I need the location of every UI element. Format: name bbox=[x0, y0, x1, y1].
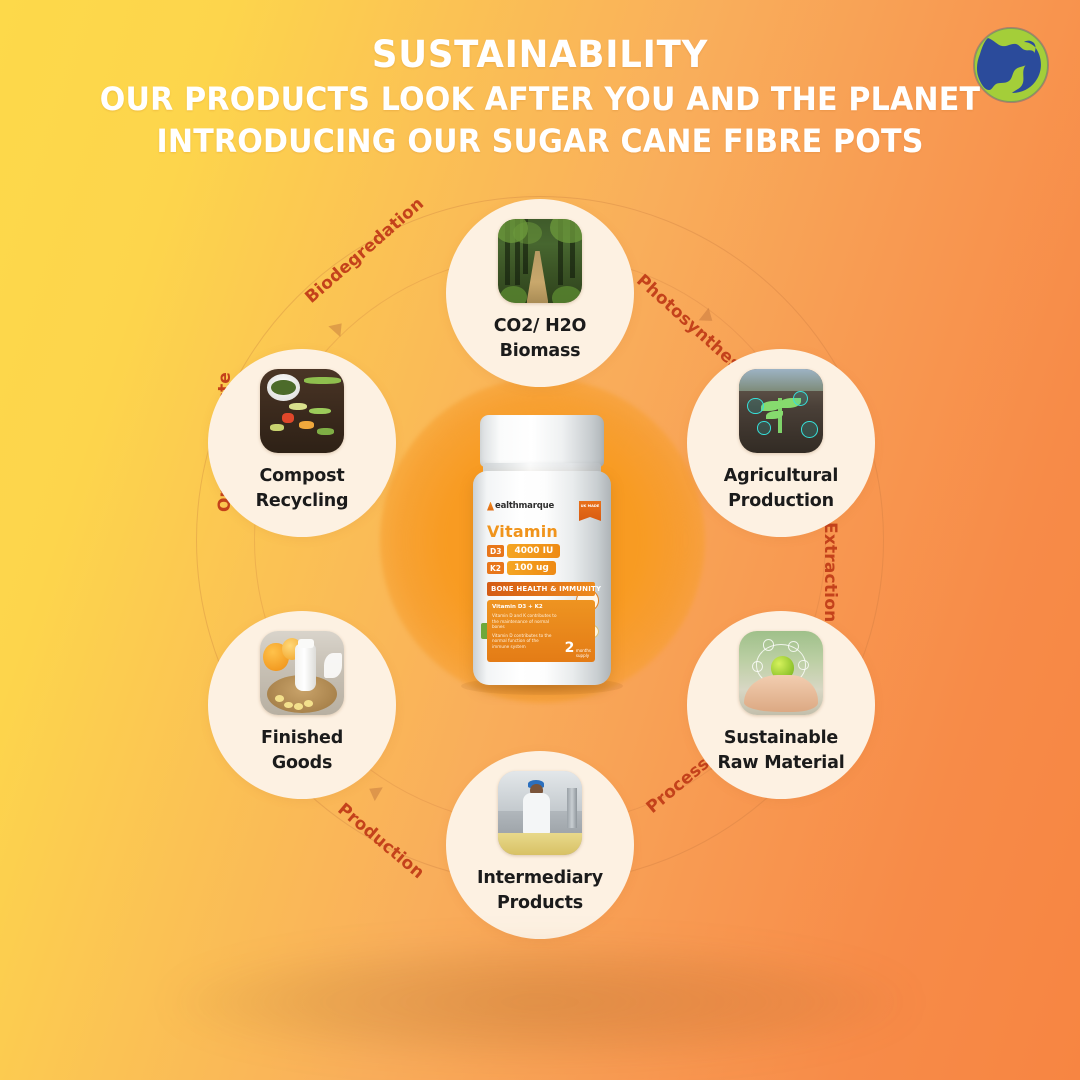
dose-key-d3: D3 bbox=[487, 545, 504, 557]
hand-holding-green-sphere-image bbox=[739, 631, 823, 715]
bottle-cap bbox=[480, 415, 604, 467]
cycle-node-compost-recycling[interactable]: Compost Recycling bbox=[208, 349, 396, 537]
page-title: SUSTAINABILITY OUR PRODUCTS LOOK AFTER Y… bbox=[0, 32, 1080, 162]
factory-worker-image bbox=[498, 771, 582, 855]
info-bullet-1: Vitamin D and K contributes to the maint… bbox=[492, 613, 557, 630]
supply-text: months supply bbox=[576, 648, 591, 658]
brand-mark-icon bbox=[487, 502, 494, 511]
headline-primary: SUSTAINABILITY bbox=[22, 32, 1059, 78]
info-bullet-2: Vitamin D contributes to the normal func… bbox=[492, 633, 557, 650]
cycle-node-co2-biomass[interactable]: CO2/ H2O Biomass bbox=[446, 199, 634, 387]
arc-label-extraction: Extraction bbox=[820, 522, 840, 622]
cycle-node-label: Sustainable Raw Material bbox=[717, 726, 844, 776]
seedling-technology-image bbox=[739, 369, 823, 453]
cycle-node-intermediary-products[interactable]: Intermediary Products bbox=[446, 751, 634, 939]
dose-row-d3: D3 4000 IU bbox=[487, 544, 595, 558]
cycle-node-agricultural-production[interactable]: Agricultural Production bbox=[687, 349, 875, 537]
cycle-node-label: Finished Goods bbox=[261, 726, 343, 776]
bottom-shadow bbox=[170, 942, 910, 1062]
supply-number: 2 bbox=[565, 640, 575, 656]
brand-logo: ealthmarque bbox=[487, 501, 595, 511]
orange-and-supplement-bottle-image bbox=[260, 631, 344, 715]
bottle-body: UK MADE ealthmarque Vitamin D3 4000 IU K… bbox=[473, 471, 611, 685]
benefit-banner: BONE HEALTH & IMMUNITY bbox=[487, 582, 595, 596]
bottle-label: ealthmarque Vitamin D3 4000 IU K2 100 ug… bbox=[487, 501, 595, 661]
cycle-node-sustainable-raw-material[interactable]: Sustainable Raw Material bbox=[687, 611, 875, 799]
product-title: Vitamin bbox=[487, 522, 595, 541]
product-bottle: UK MADE ealthmarque Vitamin D3 4000 IU K… bbox=[467, 415, 617, 685]
info-heading: Vitamin D3 + K2 bbox=[492, 604, 590, 610]
cycle-node-label: CO2/ H2O Biomass bbox=[494, 314, 586, 364]
forest-path-image bbox=[498, 219, 582, 303]
compost-food-scraps-image bbox=[260, 369, 344, 453]
label-info-panel: Vitamin D3 + K2 Vitamin D and K contribu… bbox=[487, 600, 595, 662]
cycle-node-label: Compost Recycling bbox=[256, 464, 349, 514]
cycle-node-label: Agricultural Production bbox=[724, 464, 838, 514]
headline-secondary: OUR PRODUCTS LOOK AFTER YOU AND THE PLAN… bbox=[32, 78, 1047, 120]
dose-value-k2: 100 ug bbox=[507, 561, 556, 575]
infographic-canvas: SUSTAINABILITY OUR PRODUCTS LOOK AFTER Y… bbox=[0, 0, 1080, 1080]
cycle-node-label: Intermediary Products bbox=[477, 866, 603, 916]
globe-earth-icon bbox=[968, 22, 1054, 108]
headline-tertiary: INTRODUCING OUR SUGAR CANE FIBRE POTS bbox=[32, 120, 1047, 162]
brand-name: ealthmarque bbox=[495, 501, 554, 511]
supply-duration: 2 months supply bbox=[565, 640, 591, 658]
cycle-node-finished-goods[interactable]: Finished Goods bbox=[208, 611, 396, 799]
dose-value-d3: 4000 IU bbox=[507, 544, 560, 558]
dose-key-k2: K2 bbox=[487, 562, 504, 574]
dose-row-k2: K2 100 ug bbox=[487, 561, 595, 575]
